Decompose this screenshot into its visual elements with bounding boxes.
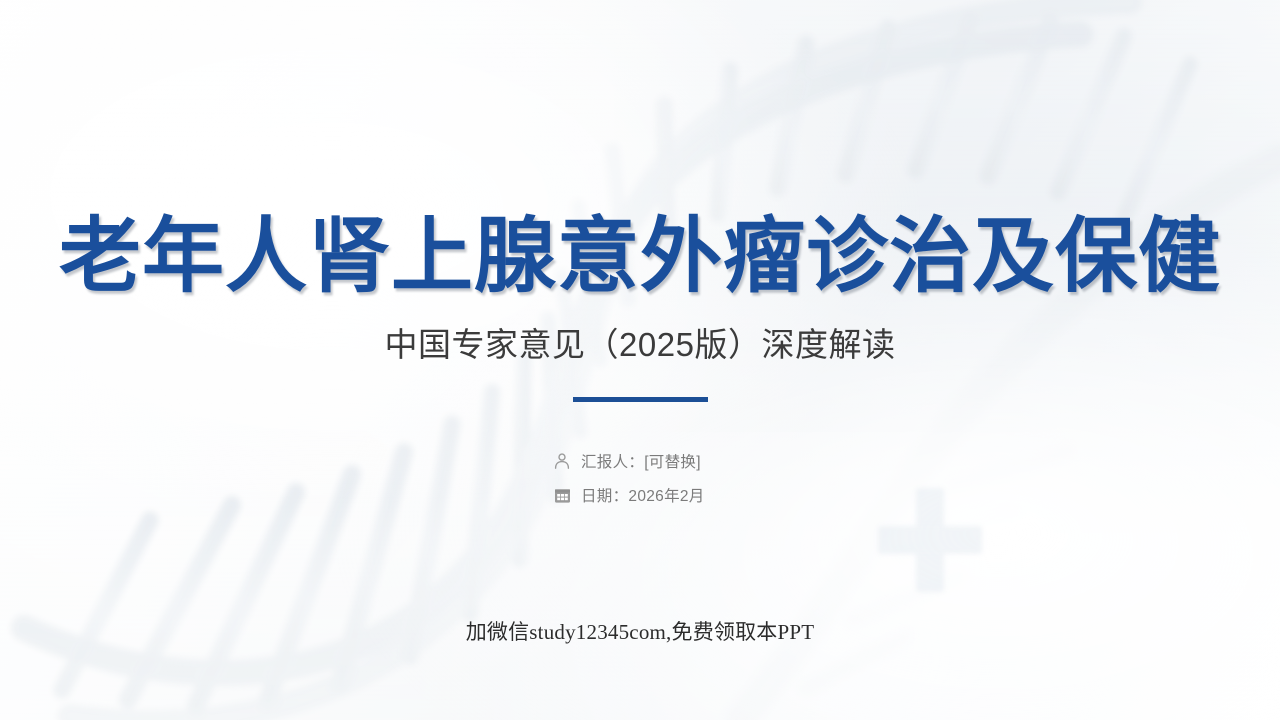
- title-divider: [573, 397, 708, 402]
- page-title: 老年人肾上腺意外瘤诊治及保健: [0, 213, 1280, 302]
- title-slide: 老年人肾上腺意外瘤诊治及保健 中国专家意见（2025版）深度解读 汇报人：[可替…: [0, 0, 1280, 720]
- person-icon: [552, 451, 572, 471]
- footer-promo-note: 加微信study12345com,免费领取本PPT: [0, 616, 1280, 646]
- calendar-icon: [552, 485, 572, 505]
- meta-row-presenter: 汇报人：[可替换]: [552, 450, 705, 472]
- date-label: 日期：2026年2月: [581, 484, 705, 506]
- presenter-label: 汇报人：[可替换]: [581, 450, 701, 472]
- page-subtitle: 中国专家意见（2025版）深度解读: [0, 324, 1280, 365]
- presenter-meta: 汇报人：[可替换]: [552, 450, 705, 506]
- meta-row-date: 日期：2026年2月: [552, 484, 705, 506]
